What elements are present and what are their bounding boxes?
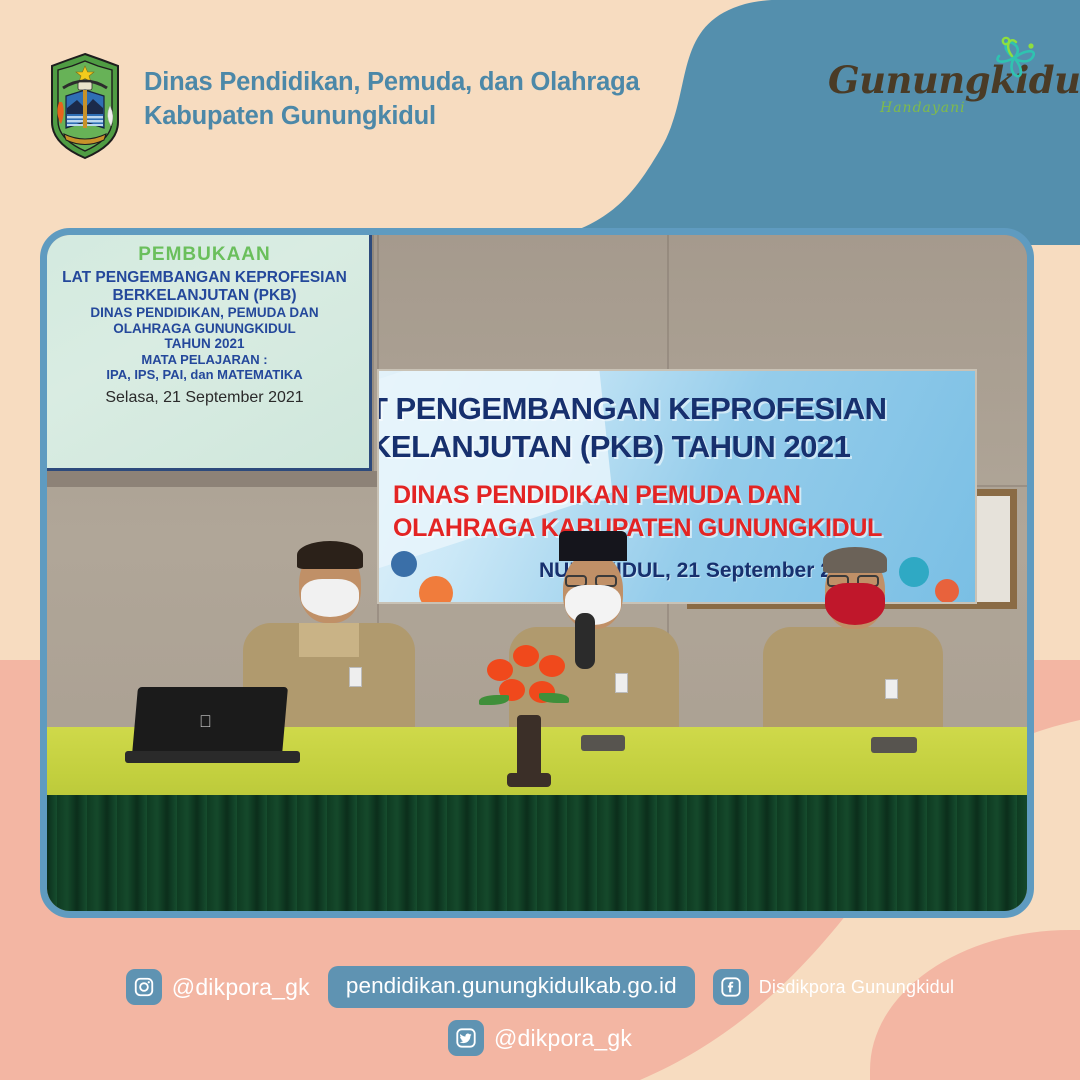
slide-line-3: DINAS PENDIDIKAN, PEMUDA DAN <box>47 305 363 321</box>
slide-line-1: LAT PENGEMBANGAN KEPROFESIAN <box>47 269 363 287</box>
flower <box>539 655 565 677</box>
laptop-base <box>125 751 300 763</box>
banner-dot <box>899 557 929 587</box>
banner-dot <box>935 579 959 603</box>
flower-vase <box>517 715 541 781</box>
website-badge[interactable]: pendidikan.gunungkidulkab.go.id <box>328 966 695 1008</box>
facebook-icon[interactable] <box>713 969 749 1005</box>
gunungkidul-brand-logo: Gunungkidul Handayani <box>828 40 1038 130</box>
person-right-id-card <box>885 679 898 699</box>
instagram-link[interactable]: @dikpora_gk <box>126 969 310 1005</box>
slide-line-4: OLAHRAGA GUNUNGKIDUL <box>47 321 363 337</box>
slide-heading: PEMBUKAAN <box>47 244 363 266</box>
person-left-id-card <box>349 667 362 687</box>
instagram-handle: @dikpora_gk <box>172 974 310 1001</box>
instagram-icon[interactable] <box>126 969 162 1005</box>
brand-tagline: Handayani <box>880 100 966 116</box>
banner-line-4: OLAHRAGA KABUPATEN GUNUNGKIDUL <box>393 514 977 543</box>
slide-line-7: IPA, IPS, PAI, dan MATEMATIKA <box>47 367 363 382</box>
person-left-face-mask <box>301 579 359 617</box>
header: Dinas Pendidikan, Pemuda, dan Olahraga K… <box>46 52 639 160</box>
facebook-link[interactable]: Disdikpora Gunungkidul <box>713 969 955 1005</box>
gunungkidul-regency-emblem-icon <box>46 52 124 160</box>
flower <box>487 659 513 681</box>
banner-dot <box>419 576 453 604</box>
flower <box>513 645 539 667</box>
microphone <box>575 613 595 669</box>
projector-screen: PEMBUKAAN LAT PENGEMBANGAN KEPROFESIAN B… <box>47 235 372 471</box>
page-title: Dinas Pendidikan, Pemuda, dan Olahraga K… <box>144 52 639 133</box>
person-right-face-mask <box>825 583 885 625</box>
event-photo: PEMBUKAAN LAT PENGEMBANGAN KEPROFESIAN B… <box>47 235 1027 911</box>
facebook-handle: Disdikpora Gunungkidul <box>759 977 955 998</box>
person-center-peci-cap <box>559 531 627 561</box>
person-left-collar <box>299 623 359 657</box>
twitter-link[interactable]: @dikpora_gk <box>448 1020 632 1056</box>
event-photo-card: PEMBUKAAN LAT PENGEMBANGAN KEPROFESIAN B… <box>40 228 1034 918</box>
banner-line-3: DINAS PENDIDIKAN PEMUDA DAN <box>393 481 977 510</box>
slide-line-5: TAHUN 2021 <box>47 336 363 352</box>
person-right-hair <box>823 547 887 573</box>
table-skirt <box>47 795 1027 911</box>
person-left-hair <box>297 541 363 569</box>
apple-logo-icon:  <box>199 713 215 731</box>
handayani-flower-icon <box>988 34 1044 89</box>
slide-date: Selasa, 21 September 2021 <box>47 389 363 408</box>
slide-line-2: BERKELANJUTAN (PKB) <box>47 287 363 305</box>
twitter-handle: @dikpora_gk <box>494 1025 632 1052</box>
footer-social-bar: @dikpora_gk pendidikan.gunungkidulkab.go… <box>0 966 1080 1056</box>
flower-vase-base <box>507 773 551 787</box>
slide-line-6: MATA PELAJARAN : <box>47 352 363 367</box>
screen-shelf <box>47 471 382 487</box>
banner-line-2: KELANJUTAN (PKB) TAHUN 2021 <box>377 429 977 465</box>
twitter-icon[interactable] <box>448 1020 484 1056</box>
smartphone <box>581 735 625 751</box>
banner-dot <box>391 551 417 577</box>
event-banner: T PENGEMBANGAN KEPROFESIAN KELANJUTAN (P… <box>377 369 977 604</box>
banner-line-1: T PENGEMBANGAN KEPROFESIAN <box>377 391 977 427</box>
person-center-id-card <box>615 673 628 693</box>
smartphone <box>871 737 917 753</box>
